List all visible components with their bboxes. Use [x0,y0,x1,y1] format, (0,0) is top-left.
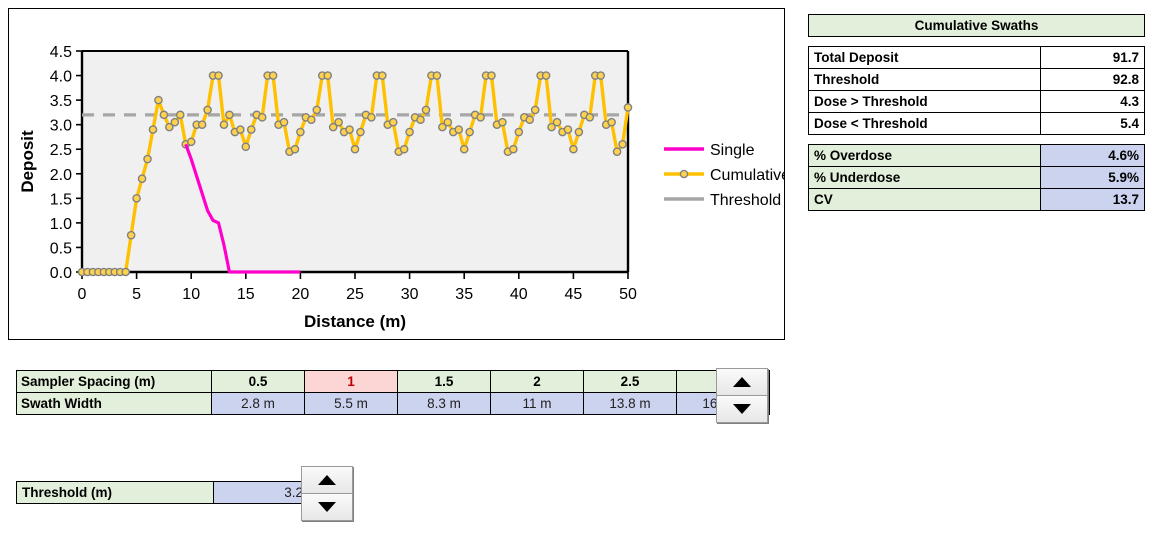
swath-width-row-header: Swath Width [17,393,212,415]
x-axis-tick-label: 20 [292,286,310,303]
cumulative-marker [128,232,135,239]
cumulative-marker [242,143,249,150]
deposit-distance-chart: 0.00.51.01.52.02.53.03.54.04.50510152025… [9,9,784,339]
spacer [808,37,1144,46]
cumulative-marker [215,72,222,79]
cumulative-swaths-table: Cumulative Swaths [808,14,1145,37]
cumulative-marker [461,146,468,153]
cumulative-marker [237,126,244,133]
cumulative-marker [188,138,195,145]
cumulative-marker [526,116,533,123]
cumulative-marker [259,114,266,121]
spacer [808,135,1144,144]
cumulative-marker [619,141,626,148]
cumulative-marker [270,72,277,79]
cumulative-marker [575,128,582,135]
row-value: 4.3 [1041,91,1145,113]
cumulative-marker [613,148,620,155]
cumulative-marker [455,126,462,133]
spacing-row-header: Sampler Spacing (m) [17,371,212,393]
stat-label: % Underdose [809,167,1041,189]
summary-stats-table: % Overdose 4.6% % Underdose 5.9% CV 13.7 [808,144,1145,211]
y-axis-tick-label: 1.5 [50,191,72,208]
cumulative-marker [608,119,615,126]
cumulative-marker [171,119,178,126]
stat-value: 5.9% [1041,167,1145,189]
cumulative-marker [532,106,539,113]
cumulative-marker [133,195,140,202]
triangle-down-icon [318,502,336,512]
cumulative-marker [417,116,424,123]
cumulative-marker [368,114,375,121]
spacing-spinner[interactable] [716,368,768,423]
stat-label: CV [809,189,1041,211]
sampler-spacing-panel: Sampler Spacing (m) 0.5 1 1.5 2 2.5 3 Sw… [16,370,770,415]
x-axis-tick-label: 30 [401,286,419,303]
cumulative-marker [155,97,162,104]
cumulative-marker [280,119,287,126]
x-axis-tick-label: 5 [132,286,141,303]
row-value: 5.4 [1041,113,1145,135]
cumulative-marker [379,72,386,79]
cumulative-marker [297,128,304,135]
x-axis-tick-label: 15 [237,286,255,303]
y-axis-tick-label: 1.0 [50,216,72,233]
table-row: Threshold (m) 3.2 [17,482,309,504]
swath-width-1: 5.5 m [305,393,398,415]
cumulative-marker [177,111,184,118]
triangle-down-icon [733,404,751,414]
swath-width-3: 11 m [491,393,584,415]
cumulative-marker [515,128,522,135]
cumulative-marker [406,128,413,135]
stat-value: 13.7 [1041,189,1145,211]
cumulative-marker [570,146,577,153]
cumulative-marker [422,106,429,113]
cumulative-marker [324,72,331,79]
cumulative-marker [248,126,255,133]
cumulative-marker [586,114,593,121]
cumulative-marker [204,106,211,113]
y-axis-tick-label: 4.0 [50,69,72,86]
threshold-value-field[interactable]: 3.2 [214,482,309,504]
cumulative-marker [564,126,571,133]
cumulative-marker [390,119,397,126]
cumulative-marker [510,146,517,153]
x-axis-tick-label: 35 [455,286,473,303]
swath-width-4: 13.8 m [584,393,677,415]
cumulative-marker [160,111,167,118]
swath-width-2: 8.3 m [398,393,491,415]
y-axis-tick-label: 3.0 [50,118,72,135]
x-axis-tick-label: 10 [182,286,200,303]
x-axis-tick-label: 45 [565,286,583,303]
y-axis-tick-label: 3.5 [50,93,72,110]
cumulative-marker [401,146,408,153]
cumulative-marker [122,268,129,275]
x-axis-title: Distance (m) [304,312,406,331]
table-row-swath-widths: Swath Width 2.8 m 5.5 m 8.3 m 11 m 13.8 … [17,393,770,415]
legend-label-cumulative: Cumulative [710,167,784,184]
cumulative-marker [466,128,473,135]
x-axis-tick-label: 25 [346,286,364,303]
table-row: % Overdose 4.6% [809,145,1145,167]
cumulative-marker [543,72,550,79]
row-value: 92.8 [1041,69,1145,91]
cumulative-marker [488,72,495,79]
legend-marker-cumulative [680,170,687,177]
chart-panel: 0.00.51.01.52.02.53.03.54.04.50510152025… [8,8,785,340]
cumulative-marker [477,114,484,121]
triangle-up-icon [733,377,751,387]
table-row: % Underdose 5.9% [809,167,1145,189]
table-row: Threshold 92.8 [809,69,1145,91]
row-label: Total Deposit [809,47,1041,69]
cumulative-marker [444,119,451,126]
cumulative-marker [144,155,151,162]
swath-width-0: 2.8 m [212,393,305,415]
spacing-option-2[interactable]: 1.5 [398,371,491,393]
y-axis-tick-label: 4.5 [50,44,72,61]
legend-label-single: Single [710,142,755,159]
cumulative-marker [433,72,440,79]
x-axis-tick-label: 40 [510,286,528,303]
cumulative-marker [308,116,315,123]
table-row: Dose < Threshold 5.4 [809,113,1145,135]
x-axis-tick-label: 0 [78,286,87,303]
stat-value: 4.6% [1041,145,1145,167]
table-row-title: Cumulative Swaths [809,15,1145,37]
spacing-option-3[interactable]: 2 [491,371,584,393]
summary-panel: Cumulative Swaths Total Deposit 91.7 Thr… [808,14,1144,211]
cumulative-marker [220,121,227,128]
cumulative-marker [357,128,364,135]
threshold-spinner-up-button[interactable] [302,467,352,494]
triangle-up-icon [318,475,336,485]
spacing-option-0[interactable]: 0.5 [212,371,305,393]
spacing-option-4[interactable]: 2.5 [584,371,677,393]
cumulative-marker [351,146,358,153]
legend-label-threshold: Threshold [710,192,781,209]
cumulative-marker [499,119,506,126]
cumulative-marker [346,126,353,133]
table-row: CV 13.7 [809,189,1145,211]
threshold-table: Threshold (m) 3.2 [16,481,309,504]
table-row-spacing-options: Sampler Spacing (m) 0.5 1 1.5 2 2.5 3 [17,371,770,393]
x-axis-tick-label: 50 [619,286,637,303]
spacing-option-1[interactable]: 1 [305,371,398,393]
cumulative-marker [226,111,233,118]
row-label: Threshold [809,69,1041,91]
threshold-spinner-down-button[interactable] [302,494,352,520]
table-row: Dose > Threshold 4.3 [809,91,1145,113]
threshold-panel: Threshold (m) 3.2 [16,481,309,504]
cumulative-marker [597,72,604,79]
cumulative-marker [313,106,320,113]
summary-title: Cumulative Swaths [809,15,1145,37]
table-row: Total Deposit 91.7 [809,47,1145,69]
summary-values-table: Total Deposit 91.7 Threshold 92.8 Dose >… [808,46,1145,135]
row-value: 91.7 [1041,47,1145,69]
cumulative-marker [335,119,342,126]
y-axis-tick-label: 0.0 [50,265,72,282]
sampler-spacing-table: Sampler Spacing (m) 0.5 1 1.5 2 2.5 3 Sw… [16,370,770,415]
cumulative-marker [138,175,145,182]
y-axis-tick-label: 2.5 [50,142,72,159]
cumulative-marker [624,104,631,111]
stat-label: % Overdose [809,145,1041,167]
threshold-label: Threshold (m) [17,482,214,504]
cumulative-marker [199,121,206,128]
spacing-spinner-down-button[interactable] [717,396,767,422]
cumulative-marker [291,146,298,153]
y-axis-tick-label: 0.5 [50,240,72,257]
cumulative-marker [553,119,560,126]
row-label: Dose > Threshold [809,91,1041,113]
threshold-spinner[interactable] [301,466,353,521]
row-label: Dose < Threshold [809,113,1041,135]
y-axis-title: Deposit [18,130,37,193]
spacing-spinner-up-button[interactable] [717,369,767,396]
y-axis-tick-label: 2.0 [50,167,72,184]
cumulative-marker [149,126,156,133]
